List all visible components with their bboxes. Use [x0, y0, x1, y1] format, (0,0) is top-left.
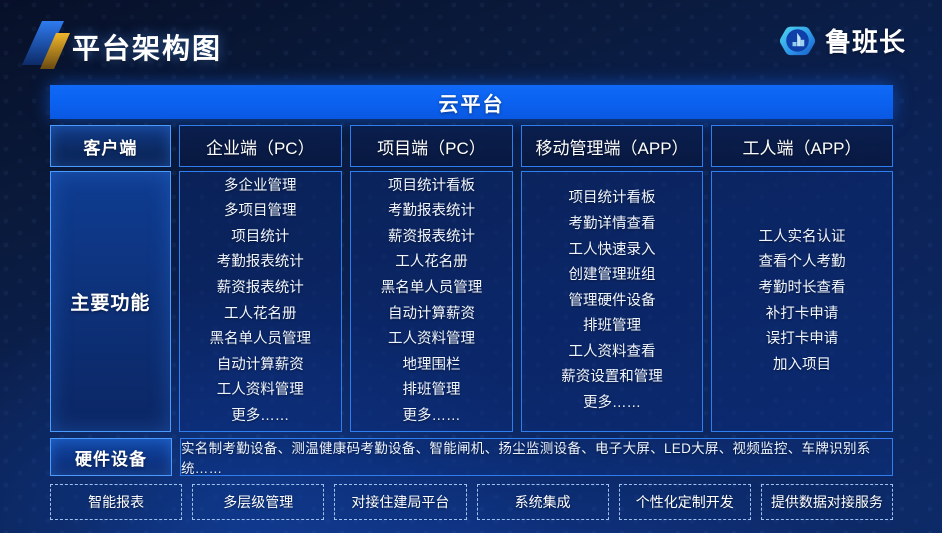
column-head-mobile-app: 移动管理端（APP）: [521, 125, 703, 167]
list-item: 自动计算薪资: [381, 302, 483, 328]
feature-list: 工人实名认证 查看个人考勤 考勤时长查看 补打卡申请 误打卡申请 加入项目: [759, 225, 846, 379]
hardware-row: 硬件设备 实名制考勤设备、测温健康码考勤设备、智能闸机、扬尘监测设备、电子大屏、…: [50, 438, 893, 476]
list-item: 更多……: [210, 404, 312, 430]
list-item: 排班管理: [381, 378, 483, 404]
list-item: 地理围栏: [381, 353, 483, 379]
column-head-label: 移动管理端（APP）: [536, 134, 689, 159]
list-item: 查看个人考勤: [759, 250, 846, 276]
service-item-smart-reports: 智能报表: [50, 484, 182, 520]
list-item: 创建管理班组: [561, 263, 663, 289]
service-item-data-integration-service: 提供数据对接服务: [761, 484, 893, 520]
list-item: 工人实名认证: [759, 225, 846, 251]
page-header: 平台架构图 鲁班长: [0, 0, 942, 80]
list-item: 考勤详情查看: [561, 212, 663, 238]
service-item-label: 多层级管理: [223, 492, 293, 512]
list-item: 更多……: [561, 391, 663, 417]
service-item-system-integration: 系统集成: [477, 484, 609, 520]
cloud-platform-label: 云平台: [439, 88, 505, 117]
list-item: 工人资料管理: [210, 378, 312, 404]
list-item: 多企业管理: [210, 174, 312, 200]
list-item: 排班管理: [561, 314, 663, 340]
cloud-platform-bar: 云平台: [50, 85, 893, 119]
list-item: 黑名单人员管理: [381, 276, 483, 302]
row-label-client-text: 客户端: [83, 134, 137, 159]
list-item: 更多……: [381, 404, 483, 430]
row-label-main-functions: 主要功能: [50, 171, 171, 432]
brand-logo: 鲁班长: [779, 22, 906, 59]
list-item: 管理硬件设备: [561, 289, 663, 315]
list-item: 薪资报表统计: [210, 276, 312, 302]
list-item: 考勤报表统计: [381, 199, 483, 225]
services-row: 智能报表 多层级管理 对接住建局平台 系统集成 个性化定制开发 提供数据对接服务: [50, 484, 893, 520]
list-item: 项目统计: [210, 225, 312, 251]
list-item: 考勤报表统计: [210, 250, 312, 276]
service-item-label: 提供数据对接服务: [771, 492, 883, 512]
service-item-custom-development: 个性化定制开发: [619, 484, 751, 520]
column-head-label: 企业端（PC）: [206, 134, 315, 159]
list-item: 补打卡申请: [759, 302, 846, 328]
brand-name: 鲁班长: [825, 22, 906, 59]
service-item-multilevel-management: 多层级管理: [192, 484, 324, 520]
row-label-client: 客户端: [50, 125, 171, 167]
list-item: 加入项目: [759, 353, 846, 379]
list-item: 多项目管理: [210, 199, 312, 225]
service-item-label: 智能报表: [88, 492, 144, 512]
hardware-device-list: 实名制考勤设备、测温健康码考勤设备、智能闸机、扬尘监测设备、电子大屏、LED大屏…: [180, 438, 893, 476]
list-item: 薪资设置和管理: [561, 365, 663, 391]
feature-list-enterprise-pc: 多企业管理 多项目管理 项目统计 考勤报表统计 薪资报表统计 工人花名册 黑名单…: [179, 171, 342, 432]
column-head-label: 工人端（APP）: [743, 134, 862, 159]
list-item: 考勤时长查看: [759, 276, 846, 302]
feature-list: 多企业管理 多项目管理 项目统计 考勤报表统计 薪资报表统计 工人花名册 黑名单…: [210, 174, 312, 430]
row-label-hardware: 硬件设备: [50, 438, 172, 476]
feature-list-worker-app: 工人实名认证 查看个人考勤 考勤时长查看 补打卡申请 误打卡申请 加入项目: [711, 171, 893, 432]
column-head-enterprise-pc: 企业端（PC）: [179, 125, 342, 167]
list-item: 工人花名册: [210, 302, 312, 328]
service-item-housing-bureau-platform: 对接住建局平台: [334, 484, 466, 520]
list-item: 工人快速录入: [561, 238, 663, 264]
feature-list-project-pc: 项目统计看板 考勤报表统计 薪资报表统计 工人花名册 黑名单人员管理 自动计算薪…: [350, 171, 513, 432]
architecture-diagram: 平台架构图 鲁班长 云平台: [0, 0, 942, 533]
main-functions-row: 主要功能 多企业管理 多项目管理 项目统计 考勤报表统计 薪资报表统计 工人花名…: [50, 171, 893, 432]
slanted-bars-decoration-icon: [18, 17, 74, 69]
list-item: 误打卡申请: [759, 327, 846, 353]
list-item: 薪资报表统计: [381, 225, 483, 251]
list-item: 自动计算薪资: [210, 353, 312, 379]
row-label-main-functions-text: 主要功能: [70, 288, 150, 315]
row-label-hardware-text: 硬件设备: [75, 445, 147, 470]
list-item: 项目统计看板: [561, 186, 663, 212]
list-item: 工人资料查看: [561, 340, 663, 366]
column-head-worker-app: 工人端（APP）: [711, 125, 893, 167]
list-item: 工人资料管理: [381, 327, 483, 353]
feature-list: 项目统计看板 考勤详情查看 工人快速录入 创建管理班组 管理硬件设备 排班管理 …: [561, 186, 663, 416]
client-header-row: 客户端 企业端（PC） 项目端（PC） 移动管理端（APP） 工人端（APP）: [50, 125, 893, 167]
feature-list-mobile-app: 项目统计看板 考勤详情查看 工人快速录入 创建管理班组 管理硬件设备 排班管理 …: [521, 171, 703, 432]
hardware-device-list-text: 实名制考勤设备、测温健康码考勤设备、智能闸机、扬尘监测设备、电子大屏、LED大屏…: [181, 437, 892, 477]
feature-list: 项目统计看板 考勤报表统计 薪资报表统计 工人花名册 黑名单人员管理 自动计算薪…: [381, 174, 483, 430]
service-item-label: 对接住建局平台: [351, 492, 449, 512]
page-title: 平台架构图: [72, 27, 222, 67]
hexagon-building-logo-icon: [779, 22, 816, 59]
column-head-project-pc: 项目端（PC）: [350, 125, 513, 167]
service-item-label: 系统集成: [515, 492, 571, 512]
list-item: 工人花名册: [381, 250, 483, 276]
list-item: 黑名单人员管理: [210, 327, 312, 353]
service-item-label: 个性化定制开发: [636, 492, 734, 512]
column-head-label: 项目端（PC）: [377, 134, 486, 159]
list-item: 项目统计看板: [381, 174, 483, 200]
